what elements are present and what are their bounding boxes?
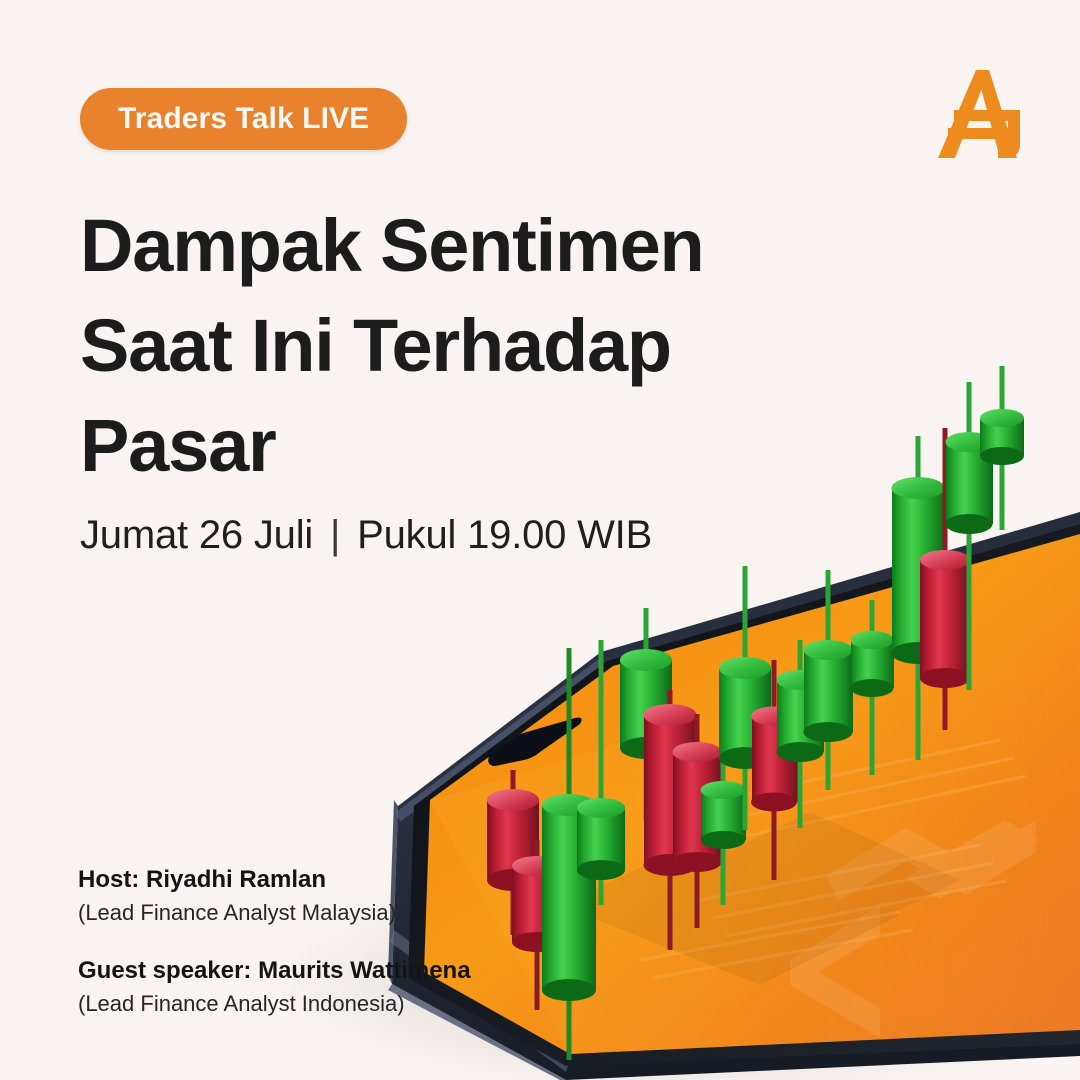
live-badge-label: Traders Talk LIVE bbox=[118, 104, 369, 134]
guest-credit: Guest speaker: Maurits Wattimena (Lead F… bbox=[78, 956, 638, 1019]
host-name: Host: Riyadhi Ramlan bbox=[78, 865, 638, 895]
poster-canvas: Traders Talk LIVE Dampak Senti bbox=[0, 0, 1080, 1080]
credits-block: Host: Riyadhi Ramlan (Lead Finance Analy… bbox=[78, 865, 638, 1018]
content-layer: Traders Talk LIVE Dampak Senti bbox=[0, 0, 1080, 1080]
headline-line-3: Pasar bbox=[80, 396, 840, 496]
brand-logo[interactable] bbox=[932, 62, 1034, 166]
page-title: Dampak Sentimen Saat Ini Terhadap Pasar bbox=[80, 196, 840, 496]
host-credit: Host: Riyadhi Ramlan (Lead Finance Analy… bbox=[78, 865, 638, 928]
guest-name: Guest speaker: Maurits Wattimena bbox=[78, 956, 638, 986]
letter-a-currency-icon bbox=[932, 62, 1034, 166]
event-datetime: Jumat 26 Juli | Pukul 19.00 WIB bbox=[80, 513, 652, 558]
datetime-separator: | bbox=[324, 513, 346, 557]
event-time: Pukul 19.00 WIB bbox=[357, 513, 652, 557]
guest-role: (Lead Finance Analyst Indonesia) bbox=[78, 990, 638, 1019]
headline-line-1: Dampak Sentimen bbox=[80, 196, 840, 296]
headline-line-2: Saat Ini Terhadap bbox=[80, 296, 840, 396]
live-badge[interactable]: Traders Talk LIVE bbox=[80, 88, 407, 150]
event-date: Jumat 26 Juli bbox=[80, 513, 313, 557]
host-role: (Lead Finance Analyst Malaysia) bbox=[78, 899, 638, 928]
